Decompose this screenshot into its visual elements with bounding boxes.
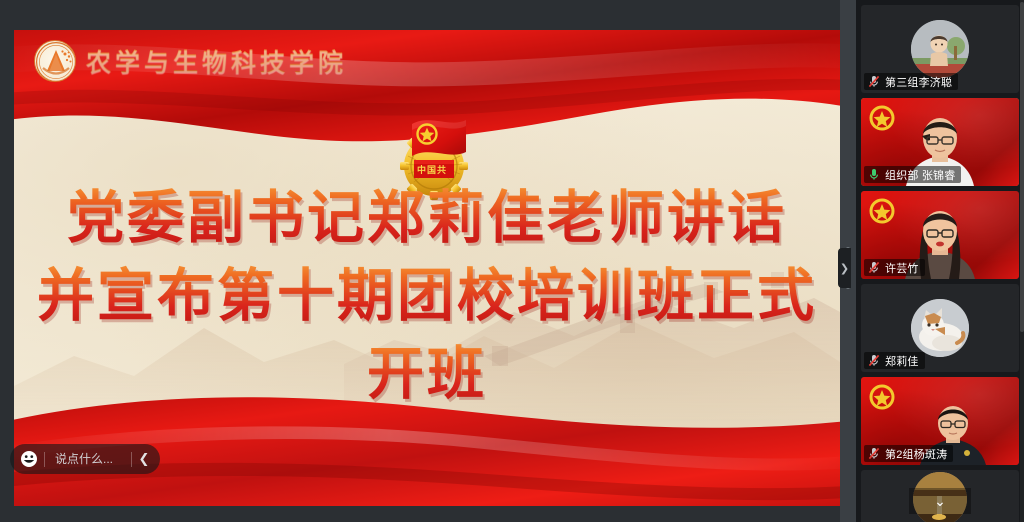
chat-input-bar[interactable]: ❮ — [10, 444, 160, 474]
participant-tile[interactable]: 第三组李济聪 — [861, 5, 1019, 93]
participant-name-badge: 第2组杨斑涛 — [864, 445, 953, 462]
participant-tile[interactable]: 组织部 张锦睿 — [861, 98, 1019, 186]
participant-name-badge: 许芸竹 — [864, 259, 925, 276]
institute-name: 农学与生物科技学院 — [86, 43, 347, 79]
institute-header: 农学与生物科技学院 — [34, 40, 347, 82]
shared-slide[interactable]: 农学与生物科技学院 — [14, 30, 840, 506]
svg-text:共: 共 — [437, 164, 446, 175]
svg-text:国: 国 — [427, 165, 436, 175]
filmstrip-scrollbar[interactable] — [1020, 0, 1024, 522]
participant-name-badge: 第三组李济聪 — [864, 73, 958, 90]
main-stage: 农学与生物科技学院 — [0, 0, 840, 522]
cyl-flag-badge-icon — [869, 198, 895, 224]
participant-tile[interactable]: ⌄ — [861, 470, 1019, 522]
participant-name: 第2组杨斑涛 — [885, 446, 947, 462]
participant-name: 许芸竹 — [885, 260, 919, 276]
mic-muted-icon — [868, 354, 880, 367]
svg-text:中: 中 — [417, 164, 426, 175]
mic-muted-icon — [868, 75, 880, 88]
panel-toggle-chevron-right-icon[interactable]: ❯ — [838, 248, 851, 288]
cartoon-person-avatar — [911, 20, 969, 78]
cyl-flag-badge-icon — [869, 384, 895, 410]
participant-name: 组织部 张锦睿 — [885, 167, 955, 183]
slide-title-line-1: 党委副书记郑莉佳老师讲话 — [28, 180, 826, 258]
mic-muted-icon — [868, 261, 880, 274]
chat-collapse-chevron-left-icon[interactable]: ❮ — [132, 444, 156, 474]
participant-name: 第三组李济聪 — [885, 74, 952, 90]
college-crest-icon — [34, 40, 76, 82]
cyl-flag-badge-icon — [869, 105, 895, 131]
participant-name-badge: 组织部 张锦睿 — [864, 166, 961, 183]
participant-name-badge: 郑莉佳 — [864, 352, 925, 369]
participant-filmstrip[interactable]: 第三组李济聪 — [856, 0, 1024, 522]
chat-message-input[interactable] — [45, 452, 131, 466]
mic-muted-icon — [868, 447, 880, 460]
scroll-down-chevron-down-icon[interactable]: ⌄ — [909, 488, 971, 514]
scrollbar-thumb[interactable] — [1020, 2, 1024, 332]
slide-title-line-2: 并宣布第十期团校培训班正式 — [28, 258, 826, 336]
slide-title-line-3: 开班 — [28, 336, 826, 414]
participant-tile[interactable]: 许芸竹 — [861, 191, 1019, 279]
participant-tile[interactable]: 郑莉佳 — [861, 284, 1019, 372]
mic-on-icon — [868, 168, 880, 181]
slide-title-block: 党委副书记郑莉佳老师讲话 并宣布第十期团校培训班正式 开班 — [14, 180, 840, 414]
cat-photo-avatar — [911, 299, 969, 357]
smiley-face-icon[interactable] — [14, 444, 44, 474]
participant-tile[interactable]: 第2组杨斑涛 — [861, 377, 1019, 465]
participant-name: 郑莉佳 — [885, 353, 919, 369]
meeting-window: 农学与生物科技学院 — [0, 0, 1024, 522]
